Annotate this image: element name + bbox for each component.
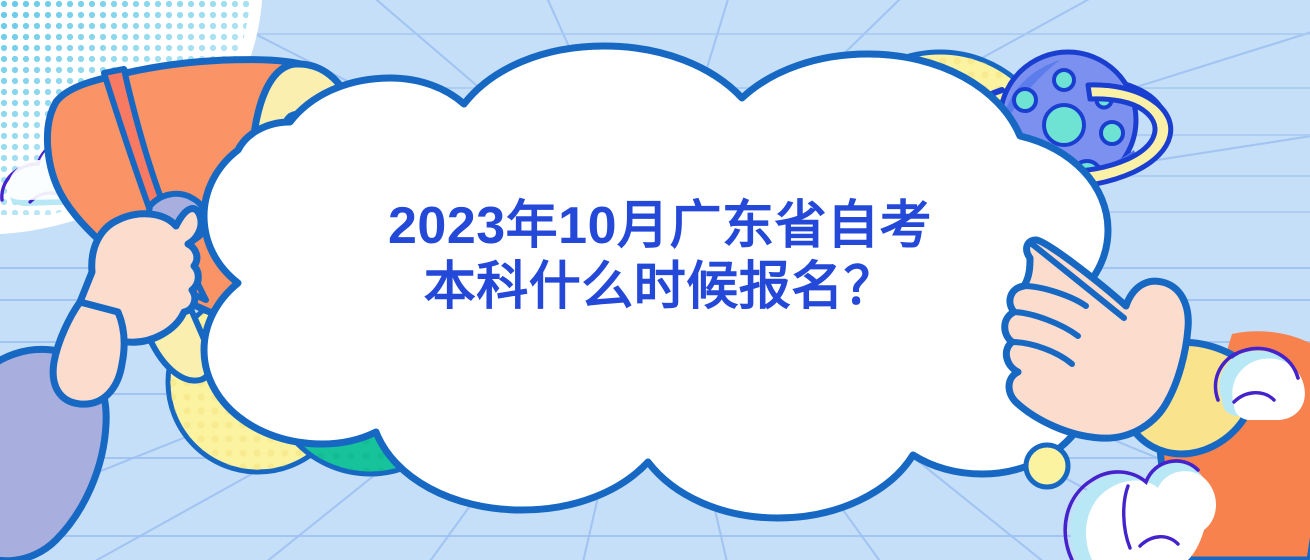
decorative-cloud-bottom-right — [0, 0, 1310, 560]
promo-banner: 2023年10月广东省自考 本科什么时候报名？ — [0, 0, 1310, 560]
